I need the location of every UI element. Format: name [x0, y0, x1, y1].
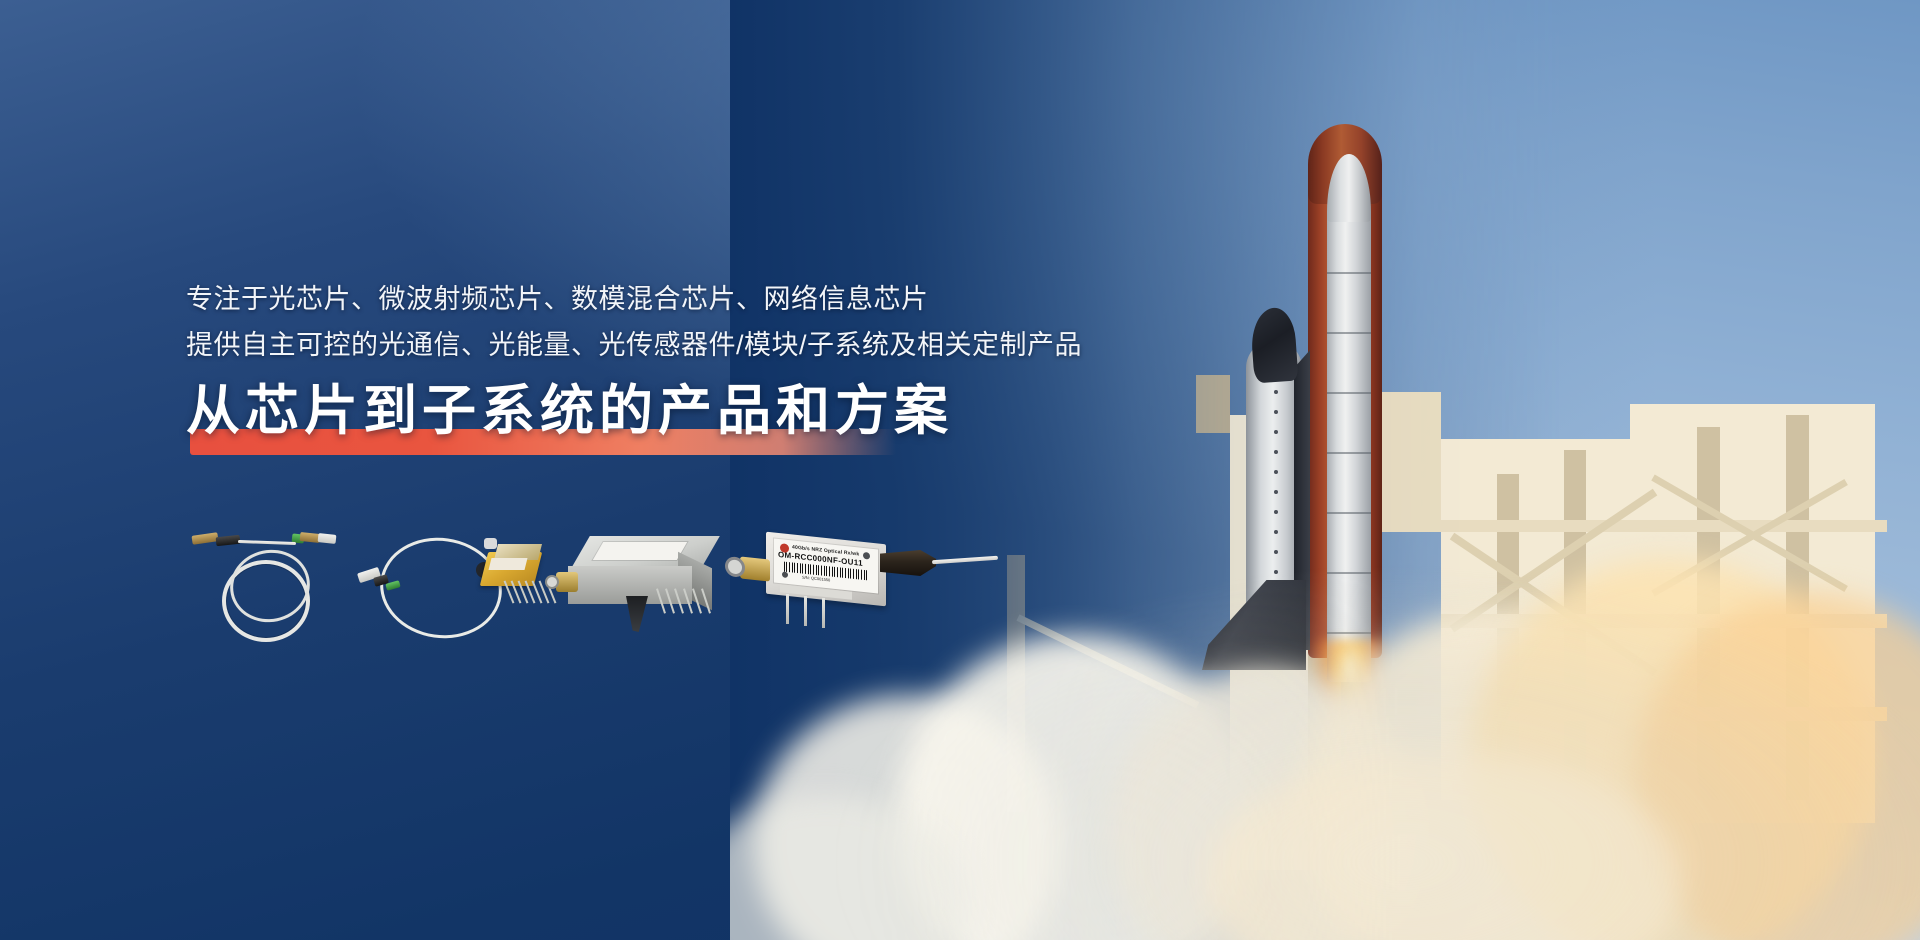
module-pins — [660, 588, 720, 618]
product-showcase: 40Gb/s NRZ Optical Rx/wk OM-RCC000NF-OU1… — [180, 520, 1190, 650]
subtitle-line-2: 提供自主可控的光通信、光能量、光传感器件/模块/子系统及相关定制产品 — [186, 324, 1206, 368]
fiber-boot-icon — [626, 596, 648, 632]
brand-logo-icon — [780, 543, 789, 553]
product-rf-metal-module — [568, 526, 748, 644]
product-om-rcc-receiver: 40Gb/s NRZ Optical Rx/wk OM-RCC000NF-OU1… — [740, 522, 1000, 648]
receiver-pins — [786, 594, 846, 628]
receiver-fiber-boot — [880, 550, 936, 576]
atmospheric-haze — [768, 423, 1920, 940]
receiver-sma-connector-icon — [740, 556, 770, 581]
receiver-fiber — [932, 556, 998, 565]
laser-knob — [484, 538, 497, 549]
module-label — [593, 542, 687, 560]
screw-hole-icon — [863, 552, 870, 560]
orbiter-nose-icon — [1249, 307, 1298, 384]
page-title: 从芯片到子系统的产品和方案 — [186, 381, 953, 441]
sma-connector-icon — [556, 572, 578, 592]
screw-hole-icon-2 — [782, 571, 788, 578]
hero-banner: 专注于光芯片、微波射频芯片、数模混合芯片、网络信息芯片 提供自主可控的光通信、光… — [0, 0, 1920, 940]
product-butterfly-laser — [356, 524, 576, 646]
banner-copy: 专注于光芯片、微波射频芯片、数模混合芯片、网络信息芯片 提供自主可控的光通信、光… — [186, 278, 1206, 467]
subtitle-line-1: 专注于光芯片、微波射频芯片、数模混合芯片、网络信息芯片 — [186, 278, 1206, 322]
headline-block: 从芯片到子系统的产品和方案 — [186, 381, 1206, 467]
product-fiber-pigtail — [180, 528, 360, 638]
butterfly-label — [489, 558, 528, 570]
